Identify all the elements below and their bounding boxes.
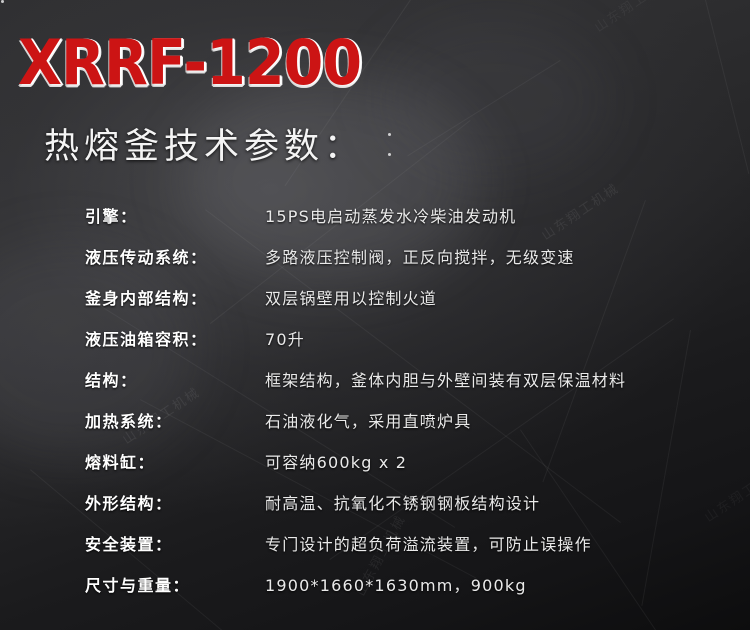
table-row: 结构： 框架结构，釜体内胆与外壁间装有双层保温材料 xyxy=(0,360,750,401)
table-row: 外形结构： 耐高温、抗氧化不锈钢钢板结构设计 xyxy=(0,483,750,524)
spec-value: 耐高温、抗氧化不锈钢钢板结构设计 xyxy=(265,483,540,524)
table-row: 液压油箱容积： 70升 xyxy=(0,319,750,360)
bg-speck xyxy=(388,153,391,156)
spec-value: 70升 xyxy=(265,319,305,360)
spec-label: 尺寸与重量： xyxy=(85,565,190,606)
spec-value: 15PS电启动蒸发水冷柴油发动机 xyxy=(265,196,516,237)
spec-label: 液压传动系统： xyxy=(85,237,208,278)
spec-value: 石油液化气，采用直喷炉具 xyxy=(265,401,471,442)
spec-value: 专门设计的超负荷溢流装置，可防止误操作 xyxy=(265,524,592,565)
spec-label: 釜身内部结构： xyxy=(85,278,208,319)
spec-label: 液压油箱容积： xyxy=(85,319,208,360)
page-subtitle: 热熔釜技术参数： xyxy=(44,118,364,169)
bg-glow-patch xyxy=(380,20,610,180)
spec-label: 熔料缸： xyxy=(85,442,155,483)
spec-label: 结构： xyxy=(85,360,138,401)
spec-value: 1900*1660*1630mm，900kg xyxy=(265,565,527,606)
table-row: 釜身内部结构： 双层锅壁用以控制火道 xyxy=(0,278,750,319)
spec-label: 引擎： xyxy=(85,196,138,237)
product-spec-banner: 山东翔工机械 山东翔工机械 山东翔工机械 山东翔工机械 山东翔工机械 XRRF-… xyxy=(0,0,750,630)
table-row: 加热系统： 石油液化气，采用直喷炉具 xyxy=(0,401,750,442)
spec-label: 外形结构： xyxy=(85,483,173,524)
bg-diagonal-line xyxy=(700,0,749,174)
spec-label: 安全装置： xyxy=(85,524,173,565)
bg-diagonal-line xyxy=(407,60,560,156)
page-title: XRRF-1200 xyxy=(18,26,361,99)
bg-speck xyxy=(388,133,391,136)
table-row: 熔料缸： 可容纳600kg x 2 xyxy=(0,442,750,483)
spec-value: 可容纳600kg x 2 xyxy=(265,442,407,483)
spec-label: 加热系统： xyxy=(85,401,173,442)
spec-table: 引擎： 15PS电启动蒸发水冷柴油发动机 液压传动系统： 多路液压控制阀，正反向… xyxy=(0,196,750,606)
watermark: 山东翔工机械 xyxy=(590,0,675,36)
spec-value: 多路液压控制阀，正反向搅拌，无级变速 xyxy=(265,237,575,278)
table-row: 尺寸与重量： 1900*1660*1630mm，900kg xyxy=(0,565,750,606)
table-row: 引擎： 15PS电启动蒸发水冷柴油发动机 xyxy=(0,196,750,237)
table-row: 液压传动系统： 多路液压控制阀，正反向搅拌，无级变速 xyxy=(0,237,750,278)
spec-value: 双层锅壁用以控制火道 xyxy=(265,278,437,319)
bg-speck xyxy=(1,0,4,3)
table-row: 安全装置： 专门设计的超负荷溢流装置，可防止误操作 xyxy=(0,524,750,565)
spec-value: 框架结构，釜体内胆与外壁间装有双层保温材料 xyxy=(265,360,626,401)
